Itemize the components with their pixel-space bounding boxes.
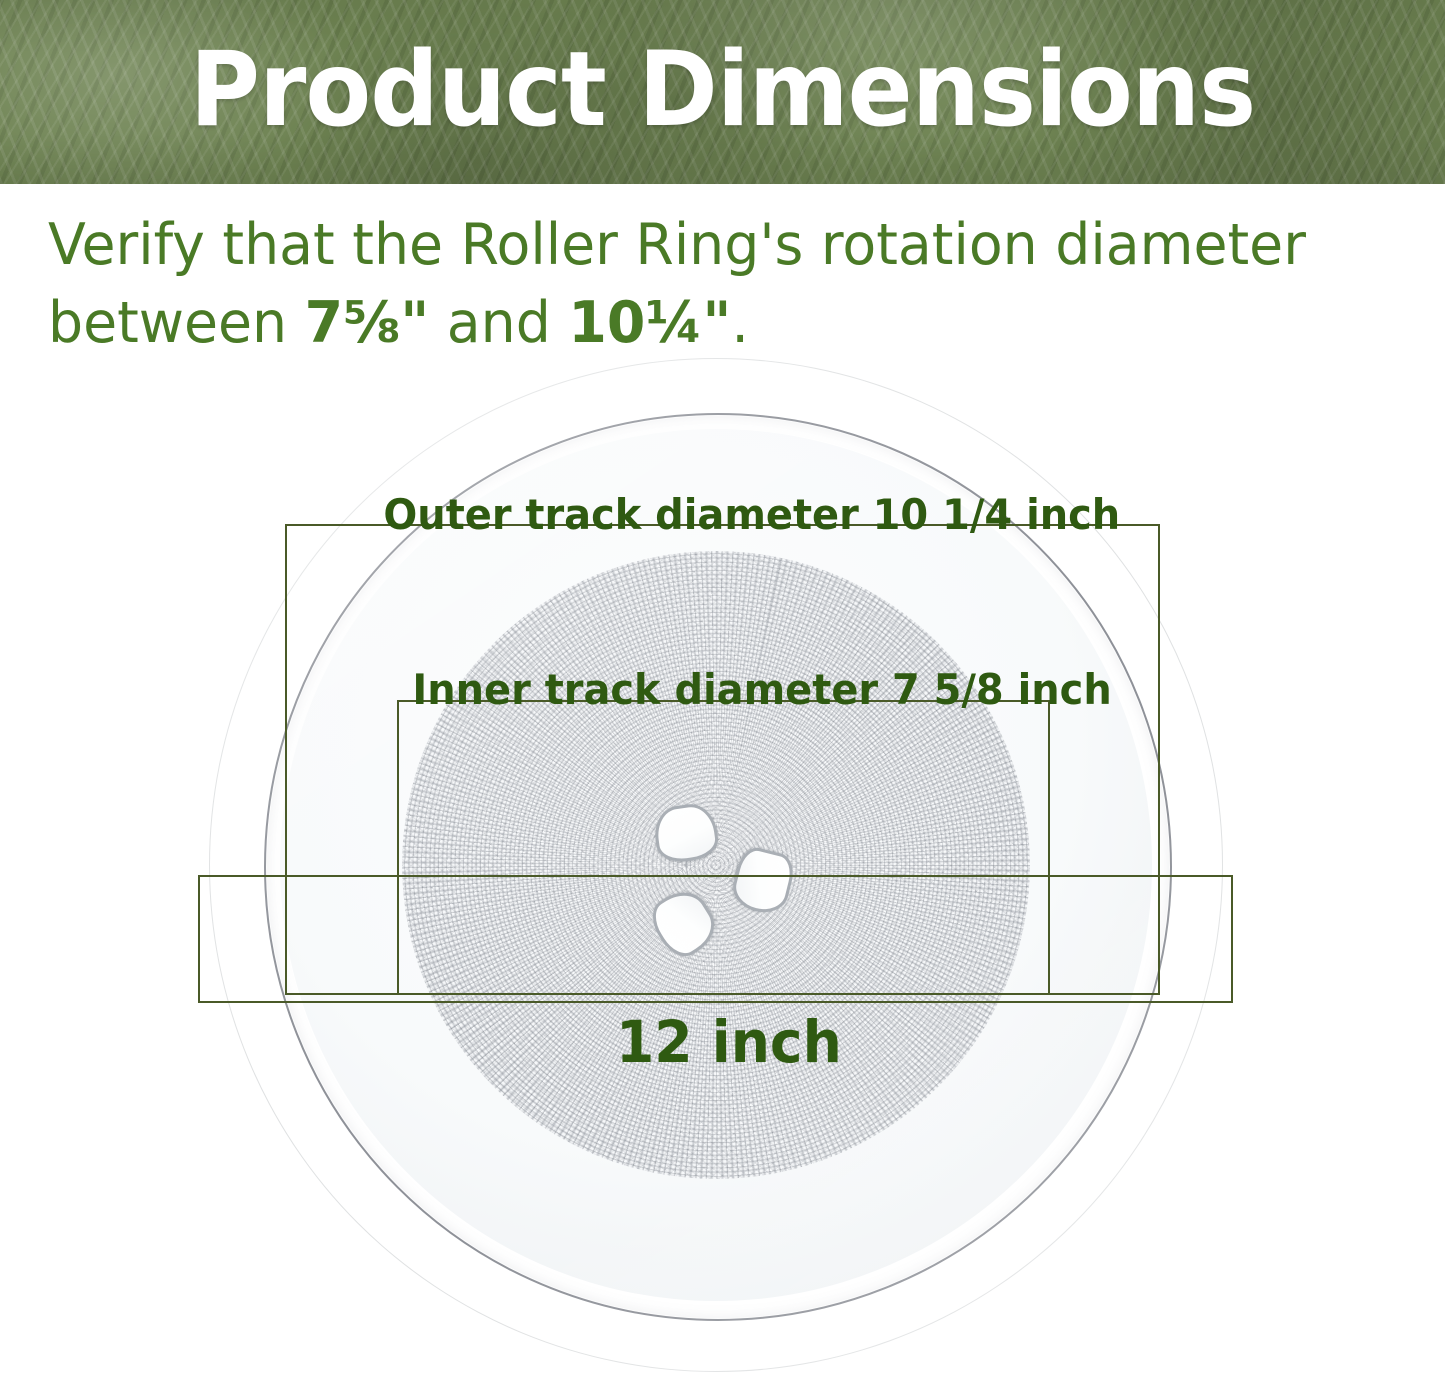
product-diagram: Outer track diameter 10 1/4 inch Inner t…: [0, 184, 1445, 1375]
inner-track-bracket: [397, 700, 1050, 995]
header-banner: Product Dimensions: [0, 0, 1445, 184]
inner-track-label: Inner track diameter 7 5/8 inch: [412, 665, 1111, 714]
outer-track-label: Outer track diameter 10 1/4 inch: [383, 490, 1120, 539]
total-diameter-label: 12 inch: [616, 1008, 842, 1076]
page-title: Product Dimensions: [51, 38, 1395, 142]
